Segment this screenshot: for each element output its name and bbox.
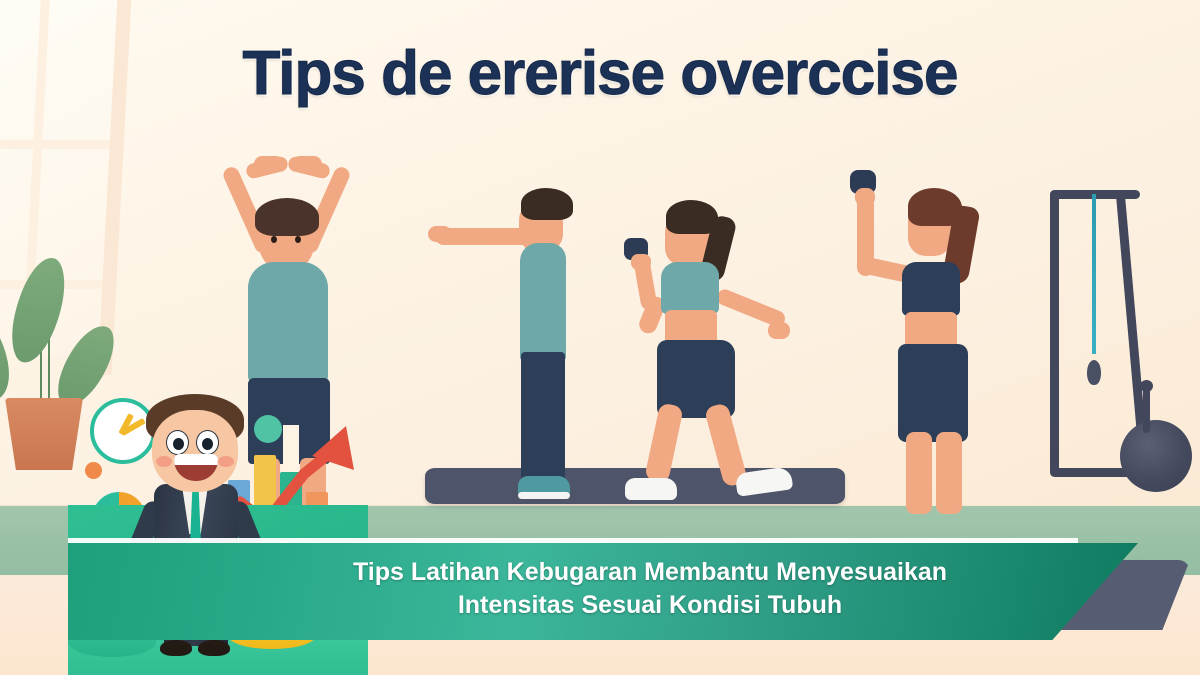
mascot-teeth (174, 454, 218, 465)
banner-line-1: Tips Latihan Kebugaran Membantu Menyesua… (300, 556, 1000, 589)
p4-shorts (898, 344, 968, 442)
banner-top-accent (68, 538, 1078, 543)
plate-knob (1140, 380, 1153, 392)
p3-shoe-front (625, 478, 677, 500)
p1-hand-left (254, 156, 284, 172)
mascot-shoe-left (160, 640, 192, 656)
window-mullion-h1 (0, 140, 116, 149)
p2-tank-top (520, 243, 566, 361)
mascot-cheek-right (218, 456, 234, 467)
p1-eye-left (271, 236, 277, 243)
p2-hand (428, 226, 452, 242)
mascot-cheek-left (156, 456, 172, 467)
mascot-eye-right (196, 430, 219, 455)
p3-sports-bra (661, 262, 719, 314)
p1-hand-right (292, 156, 322, 172)
p4-leg-right (936, 432, 962, 514)
weight-plate (1120, 420, 1192, 492)
poster-canvas: Tips de ererise overccise Tips Latihan K… (0, 0, 1200, 675)
p4-leg-left (906, 432, 932, 514)
mascot-eye-left (166, 430, 189, 455)
p2-shoe-sole (518, 492, 570, 499)
cable-handle (1087, 360, 1101, 385)
p1-tank-top (248, 262, 328, 384)
plate-post (1143, 385, 1150, 433)
mascot-pupil-left (173, 438, 184, 450)
deco-dot-orange (85, 462, 102, 479)
mascot-shoe-right (198, 640, 230, 656)
plant-pot (5, 398, 83, 470)
p1-eye-right (295, 236, 301, 243)
p4-sports-bra (902, 262, 960, 316)
p2-hair (521, 188, 573, 220)
cable-line (1092, 194, 1096, 354)
banner-caption: Tips Latihan Kebugaran Membantu Menyesua… (300, 556, 1000, 622)
banner-line-2: Intensitas Sesuai Kondisi Tubuh (300, 589, 1000, 622)
rack-post-left (1050, 190, 1059, 475)
mascot-pupil-right (202, 438, 213, 450)
p3-hand-left (631, 254, 651, 270)
page-title: Tips de ererise overccise (0, 38, 1200, 109)
p3-hand-right (768, 322, 790, 339)
p1-hair (255, 198, 319, 236)
p2-leggings (521, 352, 565, 482)
